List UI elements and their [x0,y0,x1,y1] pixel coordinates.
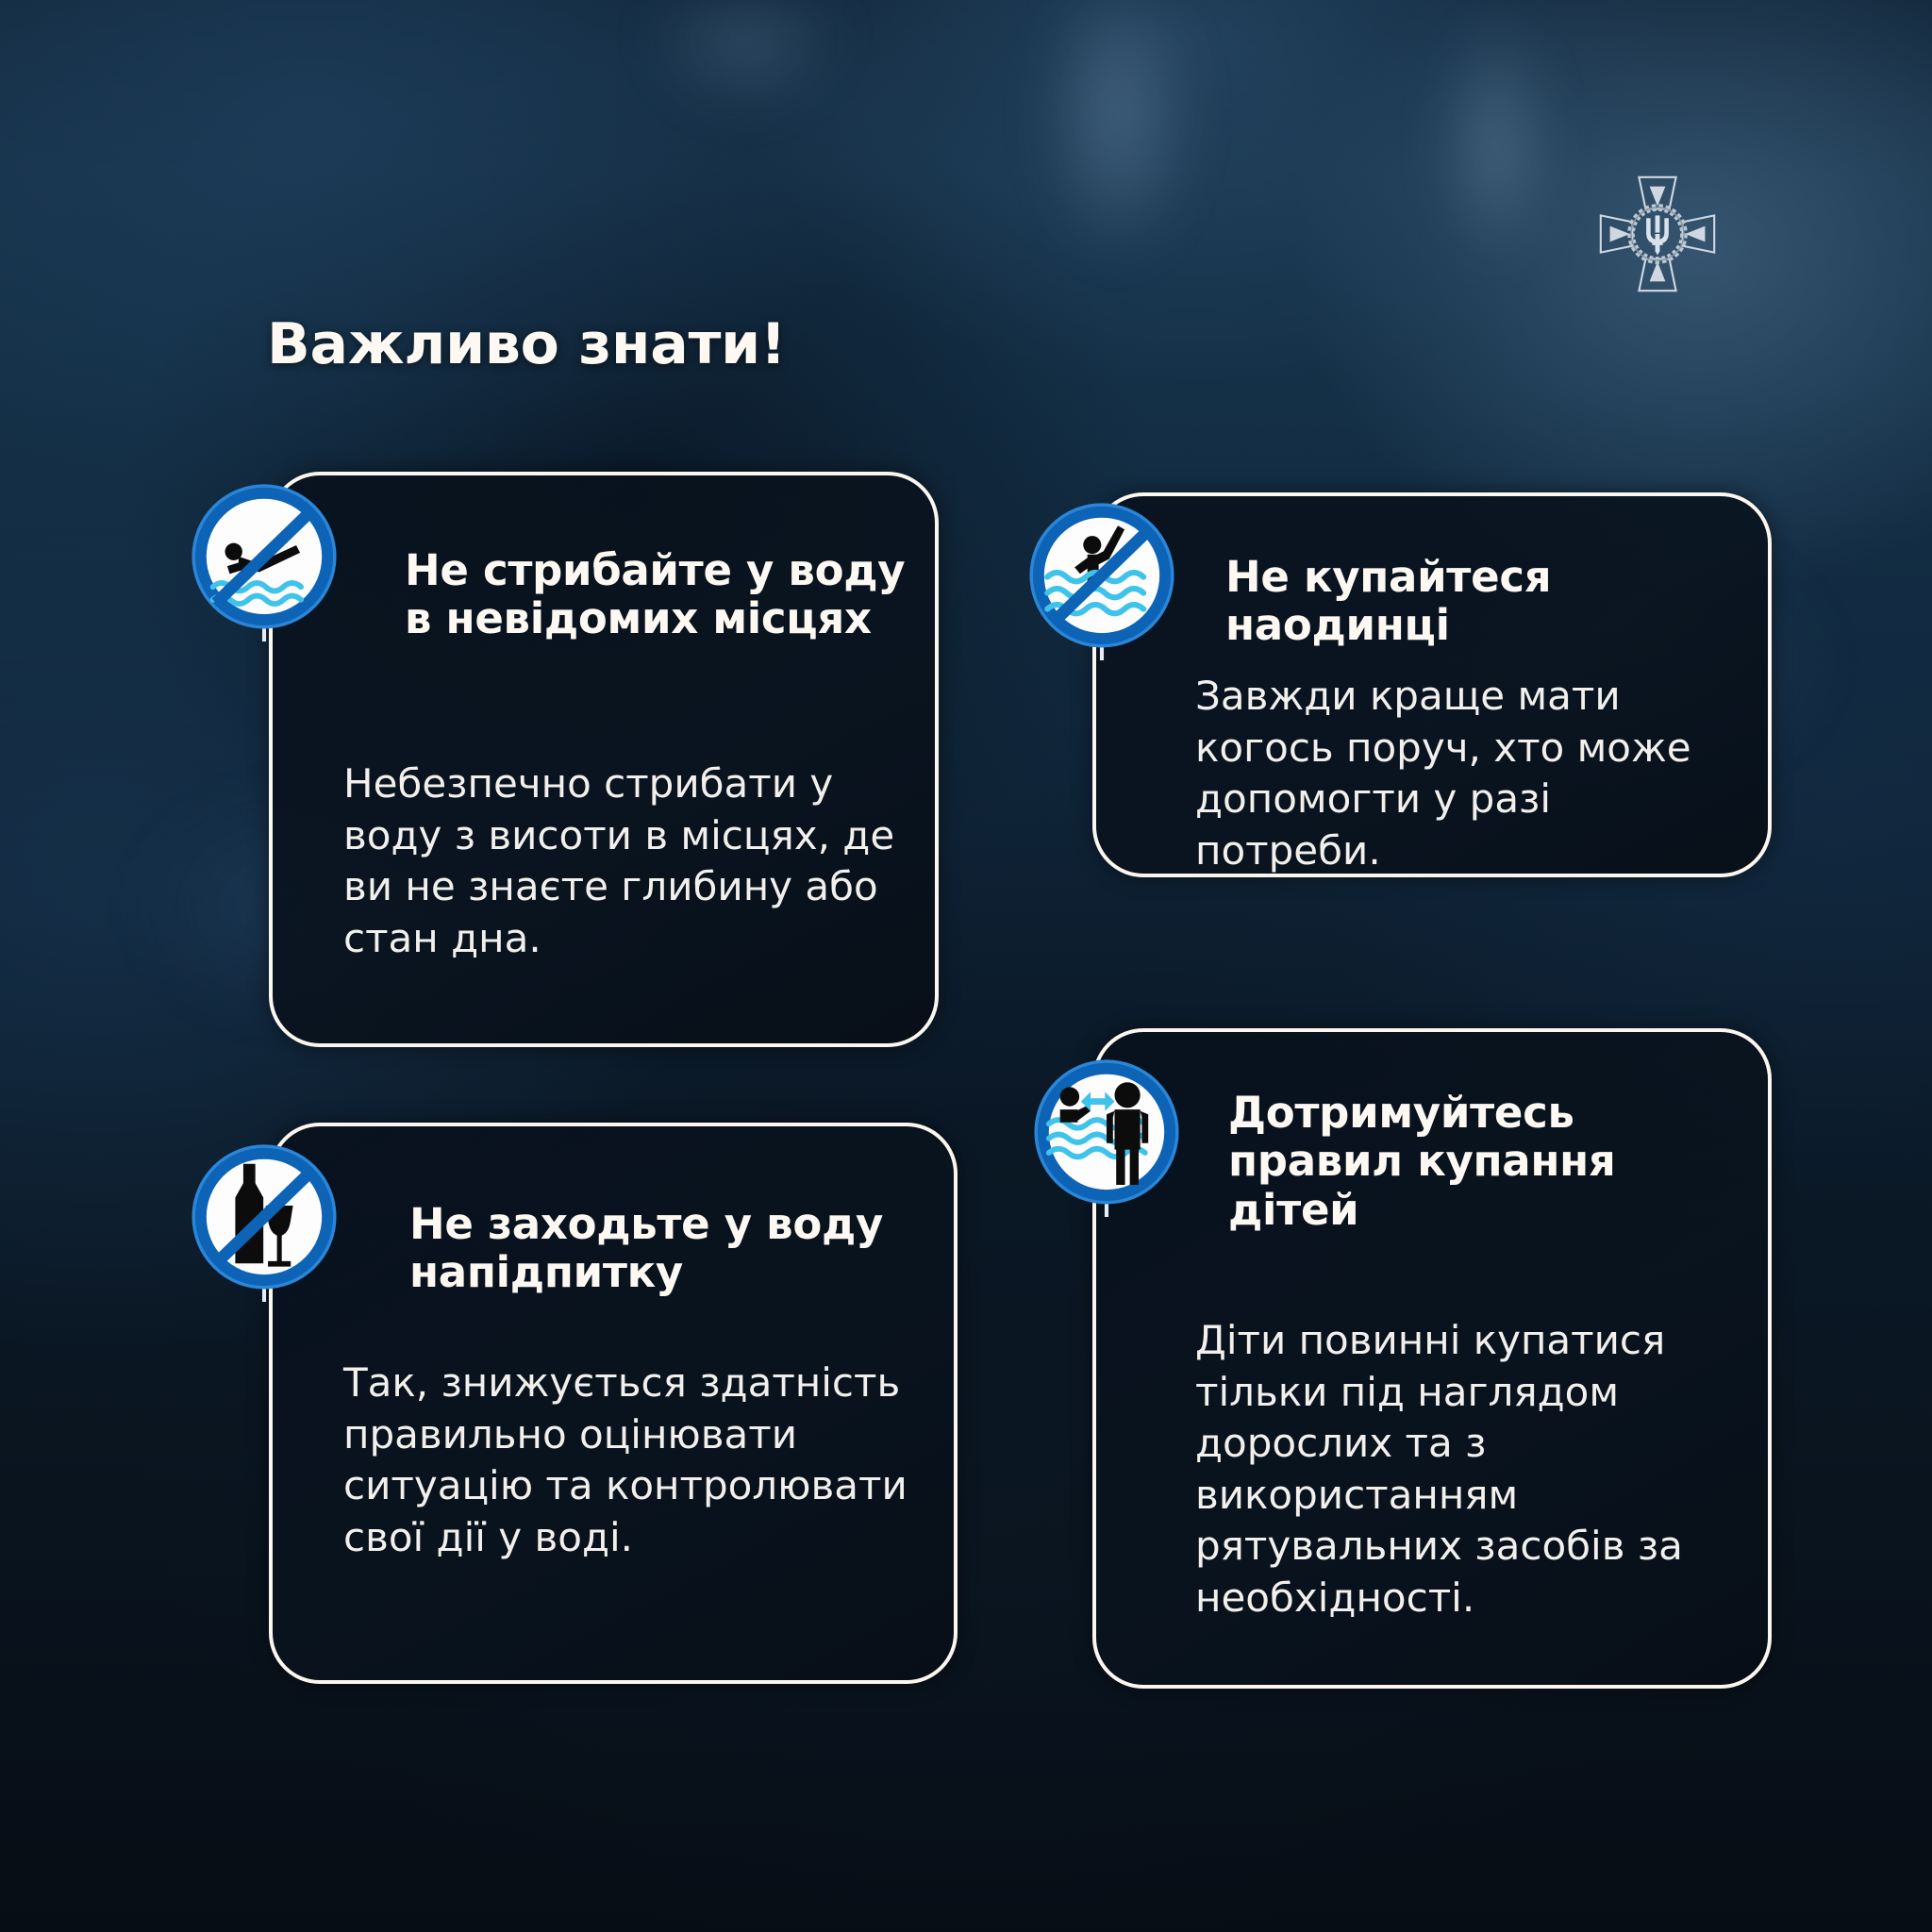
tip-card-no-swimming-alone: Не купайтеся наодинці Завжди краще мати … [1092,492,1772,877]
page-title: Важливо знати! [267,311,786,377]
no-alcohol-sign-icon [184,1141,344,1302]
tip-card-heading: Не стрибайте у воду в невідомих місцях [405,546,919,643]
tip-card-heading: Дотримуйтесь правил купання дітей [1228,1089,1700,1234]
tip-card-body: Діти повинні купатися тільки під наглядо… [1195,1315,1752,1624]
tip-card-body: Завжди краще мати когось поруч, хто може… [1195,671,1709,876]
tip-card-body: Так, знижується здатність правильно оцін… [343,1357,909,1563]
poster-root: Важливо знати! Не стрибайте у воду в нев… [0,0,1932,1932]
tip-card-heading: Не заходьте у воду напідпитку [409,1200,924,1297]
tip-card-body: Небезпечно стрибати у воду з висоти в мі… [343,758,909,964]
child-supervision-sign-icon [1026,1057,1187,1217]
no-diving-sign-icon [184,481,344,641]
tip-card-child-supervision: Дотримуйтесь правил купання дітей Діти п… [1092,1028,1772,1689]
ukraine-sns-emblem-icon [1591,168,1724,300]
tip-card-no-alcohol: Не заходьте у воду напідпитку Так, знижу… [269,1123,958,1684]
tip-card-no-diving: Не стрибайте у воду в невідомих місцях Н… [269,472,939,1047]
tip-card-heading: Не купайтеся наодинці [1225,553,1669,650]
no-swimming-alone-sign-icon [1022,500,1182,660]
